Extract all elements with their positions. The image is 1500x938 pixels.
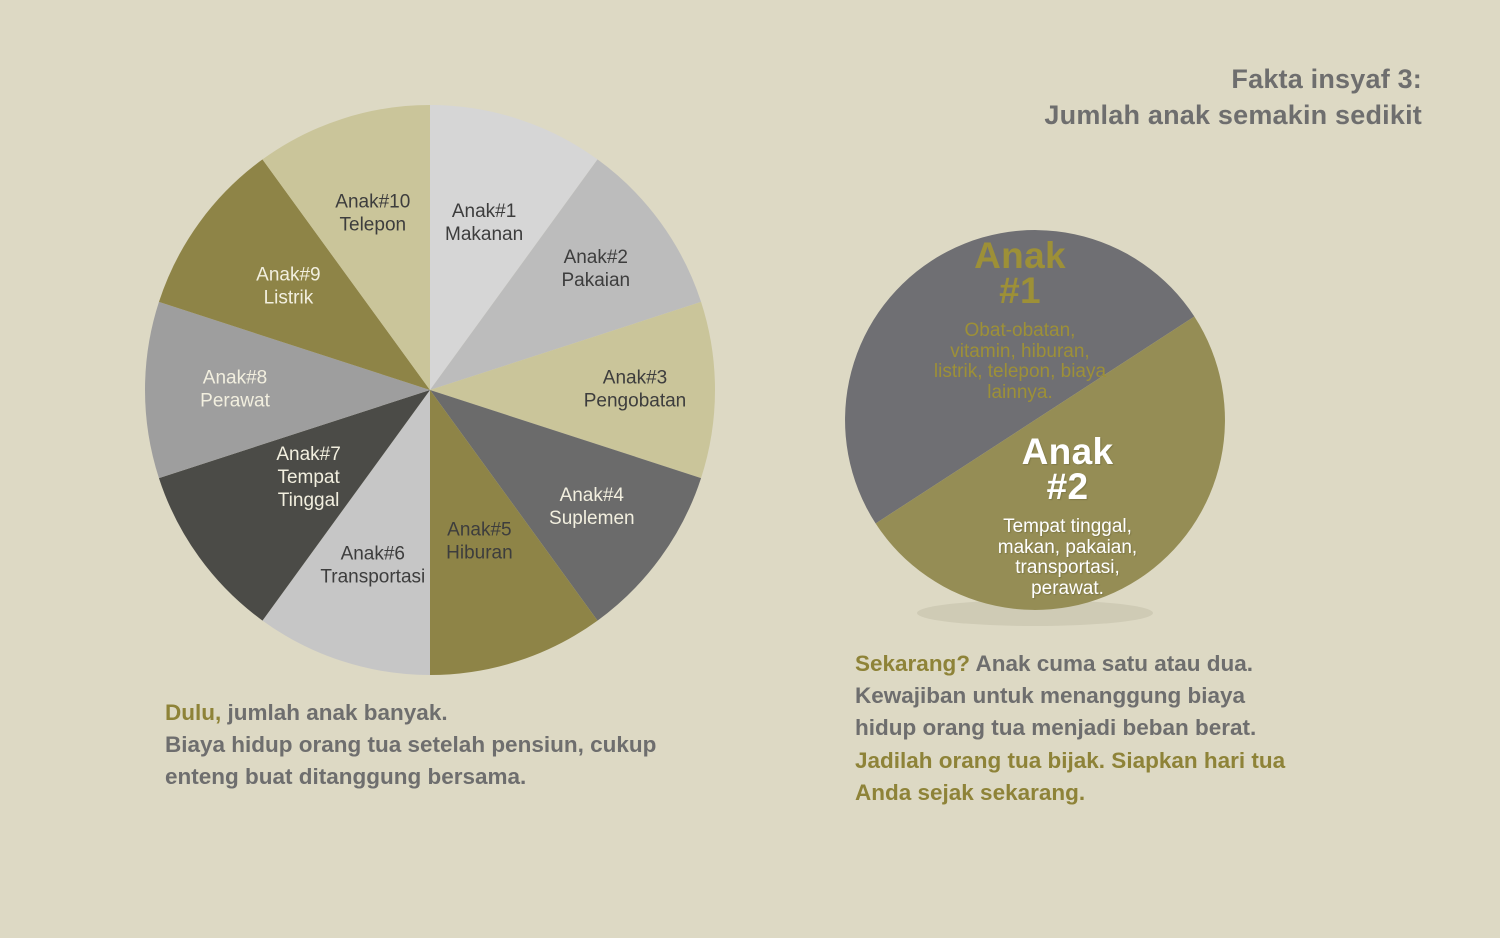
anak2-detail-line1: Tempat tinggal, <box>945 517 1190 538</box>
caption-right-line-2: Kewajiban untuk menanggung biaya <box>855 680 1415 712</box>
caption-right-line1-rest: Anak cuma satu atau dua. <box>970 651 1253 676</box>
caption-left-line1-rest: jumlah anak banyak. <box>221 700 447 725</box>
caption-right-line-5: Anda sejak sekarang. <box>855 777 1415 809</box>
anak2-heading-line2: #2 <box>945 469 1190 504</box>
anak1-detail-line4: lainnya. <box>905 383 1135 404</box>
caption-left-lead: Dulu, <box>165 700 221 725</box>
pie-slice-label-7: Anak#7TempatTinggal <box>276 444 340 511</box>
anak2-heading: Anak #2 <box>945 434 1190 504</box>
anak1-heading-line1: Anak <box>905 238 1135 273</box>
anak1-detail-line2: vitamin, hiburan, <box>905 342 1135 363</box>
pie-chart-dulu: Anak#1MakananAnak#2PakaianAnak#3Pengobat… <box>140 100 720 680</box>
anak2-heading-line1: Anak <box>945 434 1190 469</box>
caption-dulu: Dulu, jumlah anak banyak. Biaya hidup or… <box>165 697 845 794</box>
caption-left-line-1: Dulu, jumlah anak banyak. <box>165 697 845 729</box>
anak1-heading: Anak #1 <box>905 238 1135 308</box>
caption-left-line-3: enteng buat ditanggung bersama. <box>165 761 845 793</box>
pie-label-anak-2: Anak #2 Tempat tinggal, makan, pakaian, … <box>945 434 1190 599</box>
title-line-1: Fakta insyaf 3: <box>1044 62 1422 98</box>
anak1-detail: Obat-obatan, vitamin, hiburan, listrik, … <box>905 321 1135 403</box>
caption-right-lead: Sekarang? <box>855 651 970 676</box>
anak2-detail-line2: makan, pakaian, <box>945 538 1190 559</box>
caption-right-line-1: Sekarang? Anak cuma satu atau dua. <box>855 648 1415 680</box>
caption-right-line-3: hidup orang tua menjadi beban berat. <box>855 712 1415 744</box>
anak2-detail-line4: perawat. <box>945 579 1190 600</box>
anak2-detail: Tempat tinggal, makan, pakaian, transpor… <box>945 517 1190 599</box>
anak1-heading-line2: #1 <box>905 273 1135 308</box>
caption-left-line-2: Biaya hidup orang tua setelah pensiun, c… <box>165 729 845 761</box>
caption-right-line-4: Jadilah orang tua bijak. Siapkan hari tu… <box>855 745 1415 777</box>
anak2-detail-line3: transportasi, <box>945 558 1190 579</box>
caption-sekarang: Sekarang? Anak cuma satu atau dua. Kewaj… <box>855 648 1415 809</box>
pie-label-anak-1: Anak #1 Obat-obatan, vitamin, hiburan, l… <box>905 238 1135 403</box>
title-line-2: Jumlah anak semakin sedikit <box>1044 98 1422 134</box>
infographic-stage: Fakta insyaf 3: Jumlah anak semakin sedi… <box>0 0 1500 938</box>
anak1-detail-line1: Obat-obatan, <box>905 321 1135 342</box>
page-title: Fakta insyaf 3: Jumlah anak semakin sedi… <box>1044 62 1422 133</box>
anak1-detail-line3: listrik, telepon, biaya <box>905 362 1135 383</box>
